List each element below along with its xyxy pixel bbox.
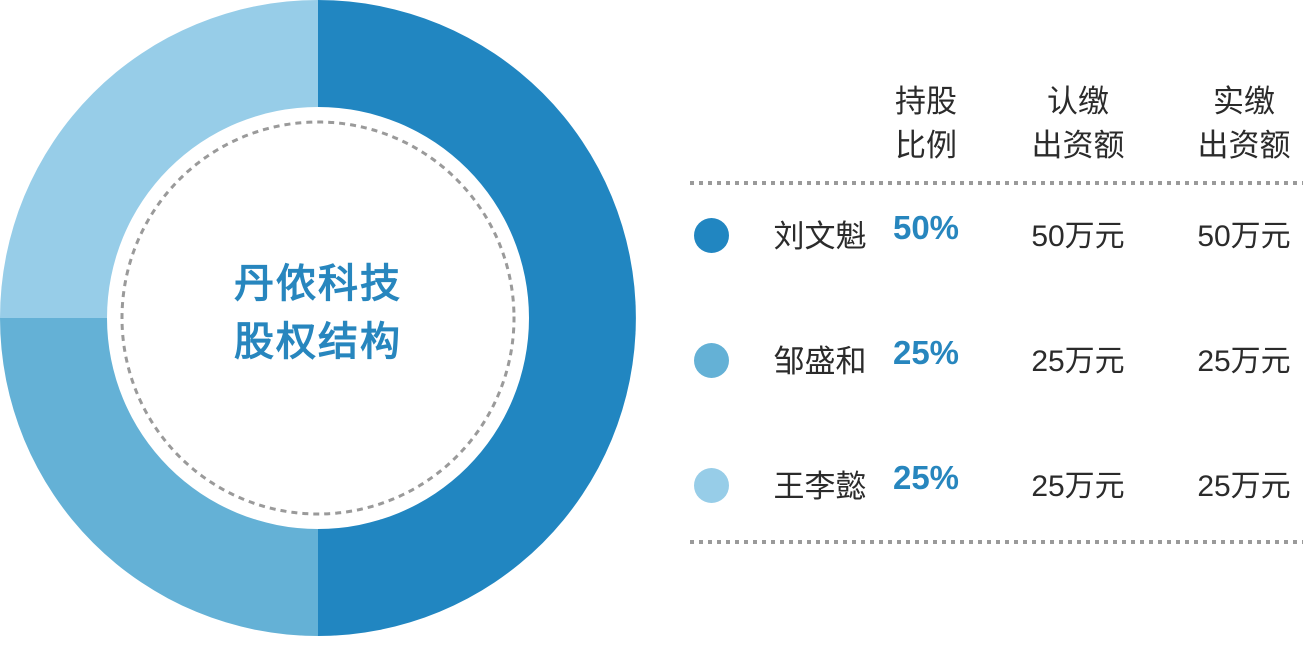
column-header-paid-capital: 实缴 出资额 <box>1166 80 1303 168</box>
shareholder-table: 持股 比例 认缴 出资额 实缴 出资额 刘文魁 50% 50万元 50万元 邹盛… <box>690 0 1303 636</box>
column-header-share-ratio-line-1: 持股 <box>866 80 986 124</box>
donut-center-title: 丹侬科技 股权结构 <box>108 255 528 371</box>
equity-donut-chart: 丹侬科技 股权结构 <box>0 0 660 636</box>
legend-dot-shareholder-2 <box>694 343 729 378</box>
cell-shareholder-name: 刘文魁 <box>760 211 880 256</box>
table-header-row: 持股 比例 认缴 出资额 实缴 出资额 <box>690 80 1303 176</box>
legend-dot-shareholder-1 <box>694 218 729 253</box>
cell-share-ratio: 25% <box>866 334 986 372</box>
legend-dot-shareholder-3 <box>694 468 729 503</box>
cell-subscribed-capital: 25万元 <box>1000 461 1156 505</box>
column-header-share-ratio-line-2: 比例 <box>866 124 986 168</box>
cell-paid-capital: 50万元 <box>1166 211 1303 255</box>
table-top-separator <box>690 181 1303 185</box>
cell-shareholder-name: 邹盛和 <box>760 336 880 381</box>
donut-center-title-line-1: 丹侬科技 <box>108 255 528 313</box>
table-row: 王李懿 25% 25万元 25万元 <box>690 459 1303 511</box>
table-row: 刘文魁 50% 50万元 50万元 <box>690 209 1303 261</box>
cell-paid-capital: 25万元 <box>1166 461 1303 505</box>
table-bottom-separator <box>690 540 1303 544</box>
column-header-share-ratio: 持股 比例 <box>866 80 986 168</box>
table-row: 邹盛和 25% 25万元 25万元 <box>690 334 1303 386</box>
cell-subscribed-capital: 50万元 <box>1000 211 1156 255</box>
column-header-paid-capital-line-2: 出资额 <box>1166 124 1303 168</box>
donut-center-title-line-2: 股权结构 <box>108 313 528 371</box>
column-header-subscribed-capital: 认缴 出资额 <box>1000 80 1156 168</box>
column-header-subscribed-capital-line-2: 出资额 <box>1000 124 1156 168</box>
column-header-subscribed-capital-line-1: 认缴 <box>1000 80 1156 124</box>
cell-share-ratio: 25% <box>866 459 986 497</box>
cell-share-ratio: 50% <box>866 209 986 247</box>
cell-subscribed-capital: 25万元 <box>1000 336 1156 380</box>
cell-paid-capital: 25万元 <box>1166 336 1303 380</box>
column-header-paid-capital-line-1: 实缴 <box>1166 80 1303 124</box>
cell-shareholder-name: 王李懿 <box>760 461 880 506</box>
